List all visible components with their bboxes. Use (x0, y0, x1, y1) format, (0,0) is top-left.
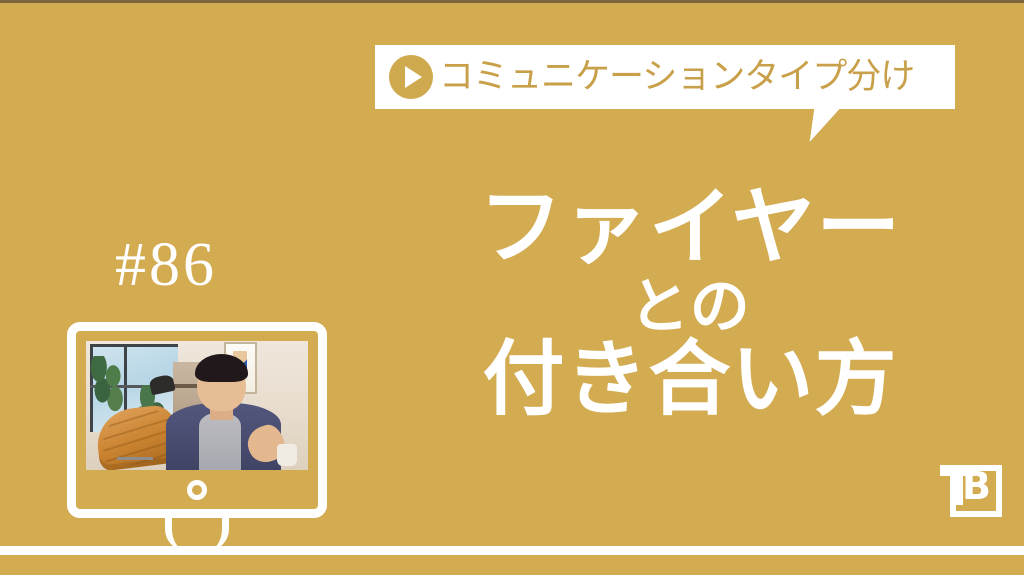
monitor-power-dot-icon (187, 480, 207, 500)
title-line-1: ファイヤー (440, 185, 940, 269)
photo-person-shirt (199, 413, 241, 470)
category-banner: コミュニケーションタイプ分け (375, 45, 955, 109)
speech-bubble-tail (810, 108, 851, 142)
thumbnail-canvas: コミュニケーションタイプ分け #86 ファイヤー との 付き合い方 (0, 0, 1024, 575)
photo-chair-leg (117, 457, 153, 460)
title-line-3: 付き合い方 (440, 339, 940, 421)
brand-logo-tb: B (940, 455, 1002, 517)
play-icon (389, 55, 433, 99)
play-triangle (405, 66, 422, 88)
episode-number: #86 (115, 234, 217, 296)
top-edge-strip (0, 0, 1024, 3)
category-banner-label: コミュニケーションタイプ分け (439, 60, 914, 95)
logo-letter-b: B (962, 467, 991, 505)
photo-cup (277, 444, 297, 466)
speaker-photo (86, 341, 308, 470)
monitor-base-bar (0, 546, 1024, 555)
photo-plant-left (88, 356, 124, 413)
monitor-screen-photo (86, 341, 308, 470)
page-title: ファイヤー との 付き合い方 (440, 185, 940, 421)
title-line-2: との (440, 277, 940, 337)
